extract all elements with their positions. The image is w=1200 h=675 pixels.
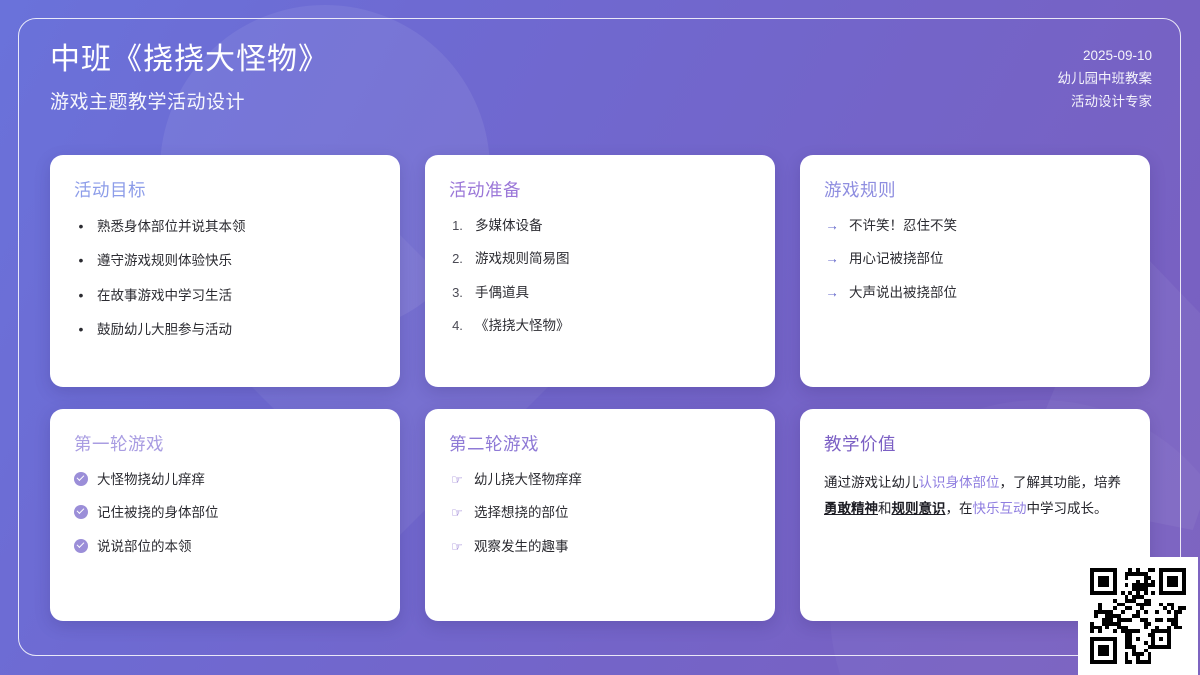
list-item-label: 记住被挠的身体部位 (97, 503, 219, 523)
list-item-label: 用心记被挠部位 (849, 249, 944, 269)
slide-root: 中班《挠挠大怪物》 游戏主题教学活动设计 2025-09-10 幼儿园中班教案 … (0, 0, 1200, 675)
header-meta: 2025-09-10 幼儿园中班教案 活动设计专家 (1058, 40, 1153, 114)
list-item: 2. 游戏规则简易图 (449, 249, 751, 269)
check-circle-icon (74, 472, 88, 486)
number-icon: 1. (449, 216, 466, 236)
list-item-label: 大怪物挠幼儿痒痒 (97, 470, 205, 490)
para-highlight-happy-interaction: 快乐互动 (973, 501, 1027, 516)
list-item-label: 大声说出被挠部位 (849, 283, 957, 303)
list-item-label: 遵守游戏规则体验快乐 (97, 251, 232, 271)
list-item: 大怪物挠幼儿痒痒 (74, 470, 376, 490)
card-activity-preparation: 活动准备 1. 多媒体设备 2. 游戏规则简易图 3. 手偶道具 4. 《挠挠大… (425, 155, 775, 387)
card-title: 游戏规则 (824, 177, 1126, 202)
list-item-label: 不许笑！忍住不笑 (849, 216, 957, 236)
para-seg: 通过游戏让幼儿 (824, 475, 919, 490)
arrow-right-icon: → (824, 283, 840, 303)
page-title: 中班《挠挠大怪物》 (50, 40, 329, 81)
list-item-label: 《挠挠大怪物》 (475, 316, 570, 336)
para-strong-courage: 勇敢精神 (824, 501, 878, 516)
list-item: ☞ 幼儿挠大怪物痒痒 (449, 470, 751, 490)
dot-icon: • (74, 250, 88, 271)
goal-list: • 熟悉身体部位并说其本领 • 遵守游戏规则体验快乐 • 在故事游戏中学习生活 … (74, 216, 376, 340)
list-item: • 熟悉身体部位并说其本领 (74, 216, 376, 237)
pointing-hand-icon: ☞ (449, 470, 465, 490)
list-item: • 在故事游戏中学习生活 (74, 285, 376, 306)
para-seg: 中学习成长。 (1027, 501, 1108, 516)
meta-category: 幼儿园中班教案 (1058, 67, 1153, 90)
list-item-label: 手偶道具 (475, 283, 529, 303)
pointing-hand-icon: ☞ (449, 537, 465, 557)
list-item: 1. 多媒体设备 (449, 216, 751, 236)
list-item-label: 选择想挠的部位 (474, 503, 569, 523)
card-title: 活动目标 (74, 177, 376, 202)
number-icon: 4. (449, 316, 466, 336)
para-seg: ，了解其功能，培养 (1000, 475, 1122, 490)
list-item-label: 观察发生的趣事 (474, 537, 569, 557)
pointing-hand-icon: ☞ (449, 503, 465, 523)
dot-icon: • (74, 319, 88, 340)
list-item: 3. 手偶道具 (449, 283, 751, 303)
page-subtitle: 游戏主题教学活动设计 (50, 87, 329, 114)
check-circle-icon (74, 505, 88, 519)
list-item-label: 幼儿挠大怪物痒痒 (474, 470, 582, 490)
round-one-list: 大怪物挠幼儿痒痒 记住被挠的身体部位 说说部位的本领 (74, 470, 376, 557)
number-icon: 2. (449, 249, 466, 269)
arrow-right-icon: → (824, 249, 840, 269)
para-seg: ，在 (946, 501, 973, 516)
list-item-label: 多媒体设备 (475, 216, 543, 236)
round-two-list: ☞ 幼儿挠大怪物痒痒 ☞ 选择想挠的部位 ☞ 观察发生的趣事 (449, 470, 751, 557)
list-item-label: 游戏规则简易图 (475, 249, 570, 269)
card-game-rules: 游戏规则 → 不许笑！忍住不笑 → 用心记被挠部位 → 大声说出被挠部位 (800, 155, 1150, 387)
list-item: → 不许笑！忍住不笑 (824, 216, 1126, 236)
slide-header: 中班《挠挠大怪物》 游戏主题教学活动设计 2025-09-10 幼儿园中班教案 … (50, 40, 1152, 114)
check-circle-icon (74, 539, 88, 553)
card-title: 第一轮游戏 (74, 431, 376, 456)
dot-icon: • (74, 216, 88, 237)
list-item-label: 鼓励幼儿大胆参与活动 (97, 320, 232, 340)
qr-code-container[interactable] (1078, 557, 1198, 675)
list-item-label: 说说部位的本领 (97, 537, 192, 557)
list-item-label: 熟悉身体部位并说其本领 (97, 217, 246, 237)
card-activity-goals: 活动目标 • 熟悉身体部位并说其本领 • 遵守游戏规则体验快乐 • 在故事游戏中… (50, 155, 400, 387)
list-item: • 遵守游戏规则体验快乐 (74, 250, 376, 271)
qr-code-icon[interactable] (1090, 568, 1186, 664)
arrow-right-icon: → (824, 216, 840, 236)
card-title: 教学价值 (824, 431, 1126, 456)
dot-icon: • (74, 285, 88, 306)
title-block: 中班《挠挠大怪物》 游戏主题教学活动设计 (50, 40, 329, 114)
list-item: ☞ 选择想挠的部位 (449, 503, 751, 523)
list-item: → 大声说出被挠部位 (824, 283, 1126, 303)
rules-list: → 不许笑！忍住不笑 → 用心记被挠部位 → 大声说出被挠部位 (824, 216, 1126, 303)
meta-author: 活动设计专家 (1058, 90, 1153, 113)
card-title: 第二轮游戏 (449, 431, 751, 456)
teaching-value-paragraph: 通过游戏让幼儿认识身体部位，了解其功能，培养勇敢精神和规则意识，在快乐互动中学习… (824, 470, 1126, 523)
list-item: 记住被挠的身体部位 (74, 503, 376, 523)
list-item: → 用心记被挠部位 (824, 249, 1126, 269)
card-grid: 活动目标 • 熟悉身体部位并说其本领 • 遵守游戏规则体验快乐 • 在故事游戏中… (50, 155, 1150, 621)
list-item: 4. 《挠挠大怪物》 (449, 316, 751, 336)
para-seg: 和 (878, 501, 892, 516)
card-title: 活动准备 (449, 177, 751, 202)
number-icon: 3. (449, 283, 466, 303)
para-strong-rules: 规则意识 (892, 501, 946, 516)
list-item-label: 在故事游戏中学习生活 (97, 286, 232, 306)
preparation-list: 1. 多媒体设备 2. 游戏规则简易图 3. 手偶道具 4. 《挠挠大怪物》 (449, 216, 751, 336)
meta-date: 2025-09-10 (1058, 44, 1153, 67)
list-item: 说说部位的本领 (74, 537, 376, 557)
para-highlight-body-parts: 认识身体部位 (919, 475, 1000, 490)
card-round-two: 第二轮游戏 ☞ 幼儿挠大怪物痒痒 ☞ 选择想挠的部位 ☞ 观察发生的趣事 (425, 409, 775, 621)
list-item: ☞ 观察发生的趣事 (449, 537, 751, 557)
list-item: • 鼓励幼儿大胆参与活动 (74, 319, 376, 340)
card-round-one: 第一轮游戏 大怪物挠幼儿痒痒 记住被挠的身体部位 说说部位的本领 (50, 409, 400, 621)
